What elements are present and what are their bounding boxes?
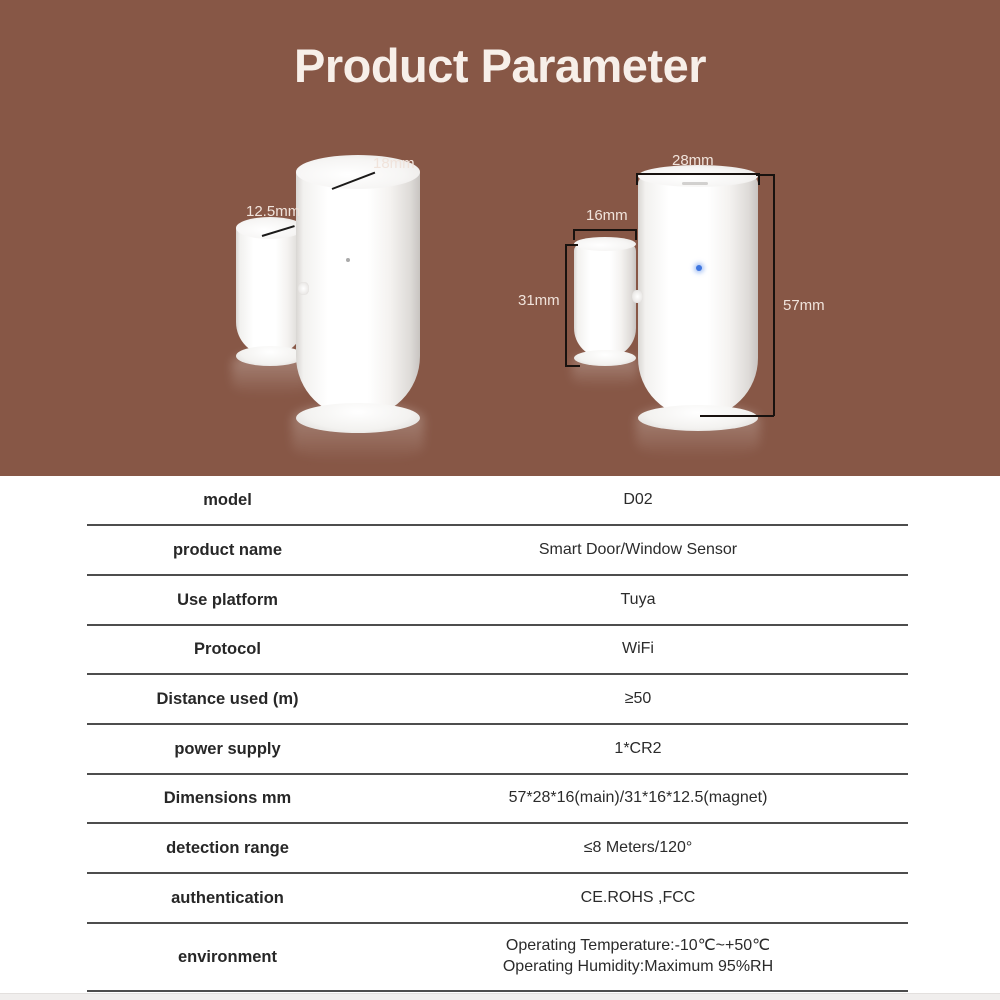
main-body bbox=[296, 172, 420, 418]
magnet-base-front bbox=[574, 350, 636, 366]
spec-label: Dimensions mm bbox=[87, 788, 368, 809]
spec-value: Smart Door/Window Sensor bbox=[368, 540, 908, 561]
spec-table: model D02 product name Smart Door/Window… bbox=[87, 476, 908, 992]
spec-label: product name bbox=[87, 540, 368, 561]
blue-status-led bbox=[696, 265, 702, 271]
table-row: Dimensions mm 57*28*16(main)/31*16*12.5(… bbox=[87, 775, 908, 824]
dim-label-main-width: 28mm bbox=[672, 152, 714, 169]
status-led-dot bbox=[346, 258, 350, 262]
spec-value-line-2: Operating Humidity:Maximum 95%RH bbox=[368, 957, 908, 978]
spec-label: Distance used (m) bbox=[87, 689, 368, 710]
magnet-cap bbox=[236, 217, 304, 239]
spec-value: Operating Temperature:-10℃~+50℃ Operatin… bbox=[368, 936, 908, 978]
spec-value-line-1: Operating Temperature:-10℃~+50℃ bbox=[506, 937, 770, 954]
dim-label-magnet-height: 31mm bbox=[518, 292, 560, 309]
main-base-front bbox=[638, 405, 758, 431]
bracket-main-height-tick-bottom bbox=[700, 415, 774, 417]
table-row: model D02 bbox=[87, 476, 908, 526]
table-row: environment Operating Temperature:-10℃~+… bbox=[87, 924, 908, 992]
table-row: authentication CE.ROHS ,FCC bbox=[87, 874, 908, 924]
magnet-body-front bbox=[574, 244, 636, 358]
magnet-coupler-front bbox=[632, 290, 643, 303]
main-body-front bbox=[638, 176, 758, 418]
spec-value: 57*28*16(main)/31*16*12.5(magnet) bbox=[368, 788, 908, 809]
bracket-main-height bbox=[773, 174, 775, 416]
dim-label-magnet-depth: 12.5mm bbox=[246, 203, 300, 220]
bracket-magnet-height-tick-top bbox=[565, 244, 578, 246]
footer-divider bbox=[0, 993, 1000, 1000]
bracket-magnet-width-tick-right bbox=[635, 229, 637, 240]
bracket-magnet-height bbox=[565, 244, 567, 366]
dim-label-main-depth: 18mm bbox=[373, 155, 415, 172]
main-base bbox=[296, 403, 420, 433]
spec-value: ≤8 Meters/120° bbox=[368, 838, 908, 859]
bracket-main-width-tick-left bbox=[636, 173, 638, 185]
spec-value: D02 bbox=[368, 490, 908, 511]
bracket-magnet-width bbox=[573, 229, 636, 231]
dim-label-main-height: 57mm bbox=[783, 297, 825, 314]
bracket-magnet-height-tick-bottom bbox=[565, 365, 580, 367]
dim-label-magnet-width: 16mm bbox=[586, 207, 628, 224]
spec-label: authentication bbox=[87, 888, 368, 909]
spec-value: CE.ROHS ,FCC bbox=[368, 888, 908, 909]
spec-label: environment bbox=[87, 947, 368, 968]
bracket-main-height-tick-top bbox=[756, 174, 774, 176]
spec-label: Use platform bbox=[87, 590, 368, 611]
table-row: detection range ≤8 Meters/120° bbox=[87, 824, 908, 874]
table-row: product name Smart Door/Window Sensor bbox=[87, 526, 908, 576]
product-parameter-page: Product Parameter 12.5mm bbox=[0, 0, 1000, 1000]
spec-value: Tuya bbox=[368, 590, 908, 611]
magnet-body bbox=[236, 228, 304, 356]
table-row: Distance used (m) ≥50 bbox=[87, 675, 908, 725]
spec-label: power supply bbox=[87, 739, 368, 760]
bracket-magnet-width-tick-left bbox=[573, 229, 575, 240]
table-row: Use platform Tuya bbox=[87, 576, 908, 626]
spec-value: ≥50 bbox=[368, 689, 908, 710]
spec-label: Protocol bbox=[87, 639, 368, 660]
bracket-main-width bbox=[636, 173, 760, 175]
magnet-cap-front bbox=[574, 237, 636, 251]
spec-label: model bbox=[87, 490, 368, 511]
spec-label: detection range bbox=[87, 838, 368, 859]
magnet-coupler bbox=[298, 282, 309, 295]
spec-value: 1*CR2 bbox=[368, 739, 908, 760]
table-row: power supply 1*CR2 bbox=[87, 725, 908, 775]
hero-banner: Product Parameter 12.5mm bbox=[0, 0, 1000, 476]
page-title: Product Parameter bbox=[0, 38, 1000, 93]
table-row: Protocol WiFi bbox=[87, 626, 908, 675]
spec-value: WiFi bbox=[368, 639, 908, 660]
magnet-base bbox=[236, 346, 304, 366]
speaker-slit bbox=[682, 182, 708, 185]
